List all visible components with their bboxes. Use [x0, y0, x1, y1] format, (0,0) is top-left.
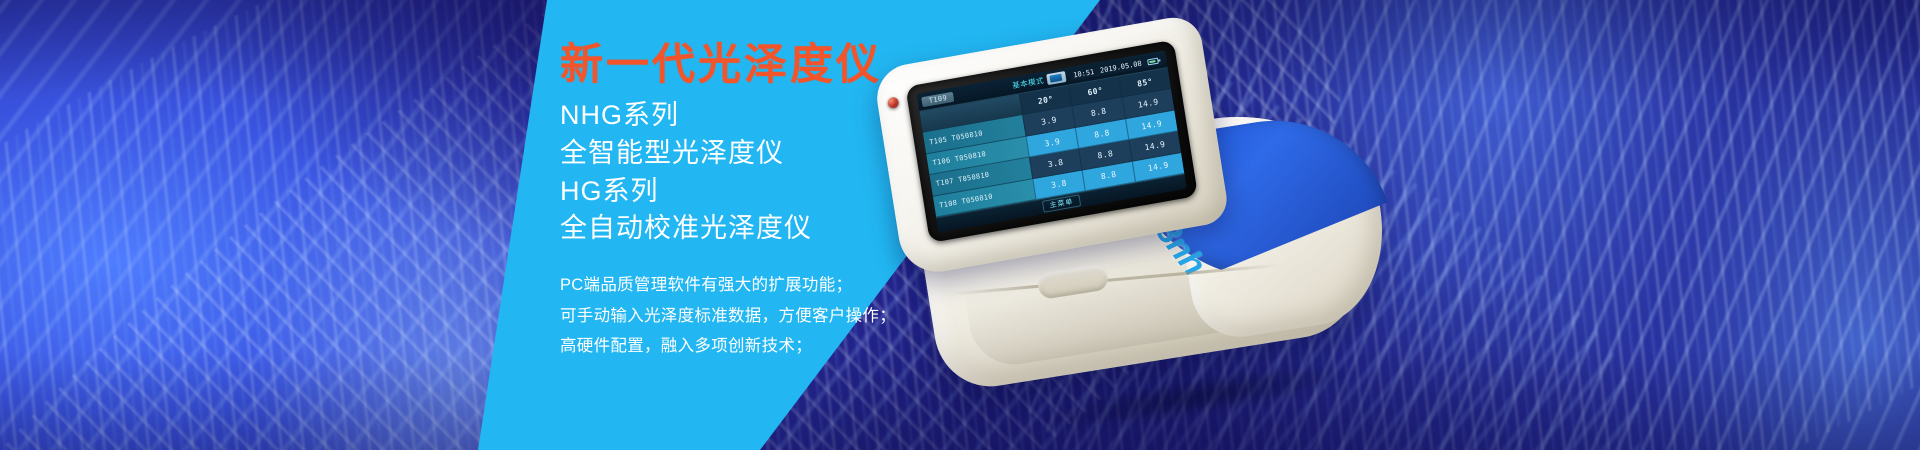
- table-row-labels: T105 T050810 T106 T050810 T107 T050810 T…: [919, 94, 1035, 217]
- product-banner: 新一代光泽度仪 NHG系列 全智能型光泽度仪 HG系列 全自动校准光泽度仪 PC…: [0, 0, 1920, 450]
- battery-icon: [1147, 57, 1159, 65]
- lcd-screen[interactable]: T109 基本模式 10:51 2019.05.08: [917, 50, 1187, 232]
- device-body: 3nh T109 基本模式 10:51: [850, 0, 1451, 450]
- clock-time: 10:51: [1073, 67, 1095, 79]
- sample-swatch-icon: [1046, 71, 1066, 85]
- power-lamp-icon: [887, 96, 900, 109]
- mode-label: 基本模式: [1011, 75, 1044, 91]
- sample-tab-label[interactable]: T109: [921, 91, 955, 107]
- clock-date: 2019.05.08: [1099, 59, 1142, 74]
- screen-bezel: T109 基本模式 10:51 2019.05.08: [905, 40, 1198, 243]
- product-image-glossmeter: 3nh T109 基本模式 10:51: [880, 10, 1420, 440]
